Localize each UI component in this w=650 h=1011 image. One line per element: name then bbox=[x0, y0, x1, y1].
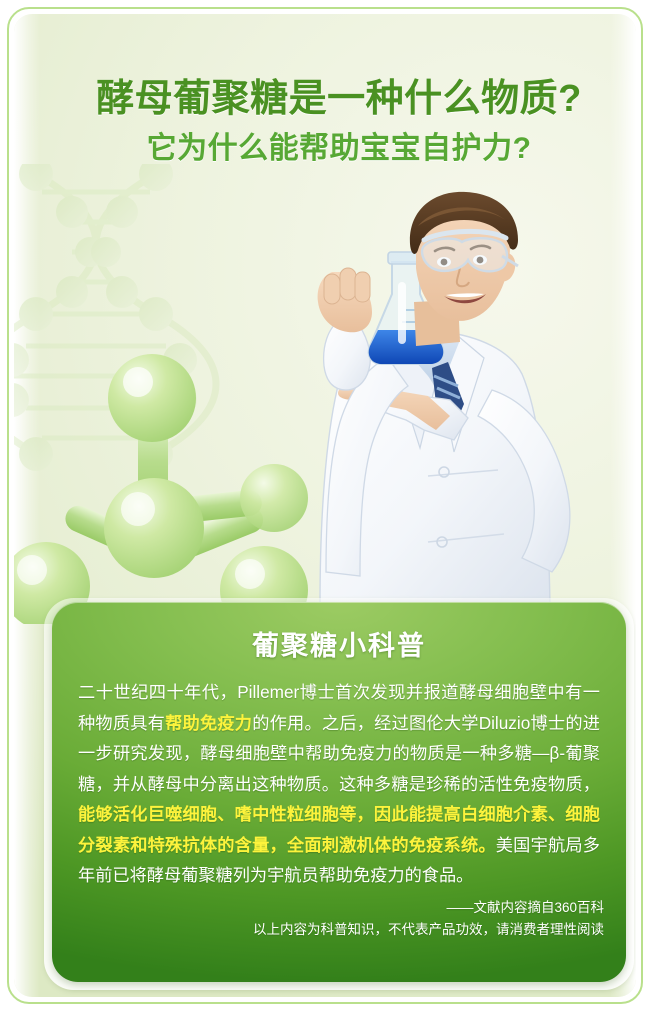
info-card-wrapper: 葡聚糖小科普 二十世纪四十年代，Pillemer博士首次发现并报道酵母细胞壁中有… bbox=[40, 594, 636, 992]
promo-page: 酵母葡聚糖是一种什么物质? 它为什么能帮助宝宝自护力? 葡聚糖小科普 二十世纪四… bbox=[0, 0, 650, 1011]
card-title: 葡聚糖小科普 bbox=[52, 624, 626, 663]
source-attribution: ——文献内容摘自360百科 bbox=[52, 897, 604, 919]
headline-line-2: 它为什么能帮助宝宝自护力? bbox=[14, 126, 636, 172]
card-footer: ——文献内容摘自360百科 以上内容为科普知识，不代表产品功效，请消费者理性阅读 bbox=[52, 891, 626, 941]
disclaimer-note: 以上内容为科普知识，不代表产品功效，请消费者理性阅读 bbox=[52, 919, 604, 941]
page-title: 酵母葡聚糖是一种什么物质? 它为什么能帮助宝宝自护力? bbox=[14, 72, 636, 172]
headline-line-1: 酵母葡聚糖是一种什么物质? bbox=[14, 72, 636, 126]
page-inner-background: 酵母葡聚糖是一种什么物质? 它为什么能帮助宝宝自护力? 葡聚糖小科普 二十世纪四… bbox=[14, 14, 636, 997]
card-body: 二十世纪四十年代，Pillemer博士首次发现并报道酵母细胞壁中有一种物质具有帮… bbox=[52, 677, 626, 891]
body-segment-highlight: 帮助免疫力 bbox=[165, 713, 252, 733]
scientist-figure bbox=[192, 190, 636, 605]
info-card: 葡聚糖小科普 二十世纪四十年代，Pillemer博士首次发现并报道酵母细胞壁中有… bbox=[52, 602, 626, 982]
